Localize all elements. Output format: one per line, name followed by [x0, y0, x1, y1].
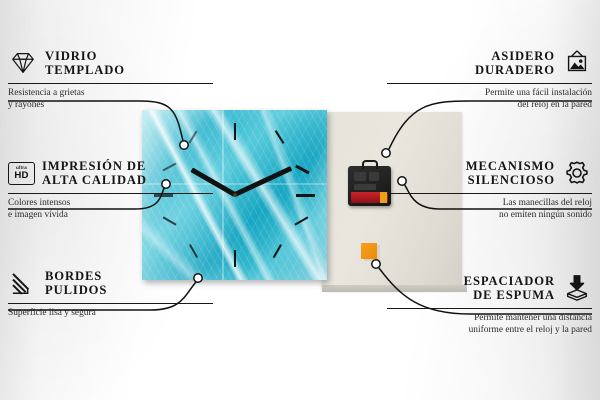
feature-title: ASIDERO DURADERO — [475, 49, 555, 78]
feature-print-quality: ultra HD IMPRESIÓN DE ALTA CALIDAD Color… — [8, 156, 213, 221]
feature-polished-edges: BORDES PULIDOS Superficie lisa y segura — [8, 266, 213, 320]
feature-heading: VIDRIO TEMPLADO — [8, 46, 213, 80]
feature-divider — [387, 193, 592, 194]
feature-subtitle: Las manecillas del reloj no emiten ningú… — [387, 198, 592, 221]
feature-subtitle: Permite una fácil instalación del reloj … — [387, 88, 592, 111]
feature-tempered-glass: VIDRIO TEMPLADO Resistencia a grietas y … — [8, 46, 213, 111]
feature-heading: BORDES PULIDOS — [8, 266, 213, 300]
feature-durable-hanger: ASIDERO DURADERO Permite una fácil insta… — [387, 46, 592, 111]
feature-divider — [387, 308, 592, 309]
feature-subtitle: Permite mantener una distancia uniforme … — [387, 313, 592, 336]
feature-subtitle: Colores intensos e imagen vívida — [8, 198, 213, 221]
feature-silent-mechanism: MECANISMO SILENCIOSO Las manecillas del … — [387, 156, 592, 221]
feature-title: BORDES PULIDOS — [45, 269, 107, 298]
feature-heading: ESPACIADOR DE ESPUMA — [387, 271, 592, 305]
connector-dot-tempered-glass — [180, 141, 188, 149]
feature-title: MECANISMO SILENCIOSO — [466, 159, 555, 188]
feature-divider — [387, 83, 592, 84]
picture-hanger-icon — [562, 49, 592, 77]
feature-title: ESPACIADOR DE ESPUMA — [464, 274, 555, 303]
feature-title: VIDRIO TEMPLADO — [45, 49, 125, 78]
feature-divider — [8, 193, 213, 194]
infographic-canvas: VIDRIO TEMPLADO Resistencia a grietas y … — [0, 0, 600, 400]
feature-heading: MECANISMO SILENCIOSO — [387, 156, 592, 190]
diamond-icon — [8, 49, 38, 77]
feature-subtitle: Resistencia a grietas y rayones — [8, 88, 213, 111]
connector-dot-foam-spacer — [372, 260, 380, 268]
feature-heading: ASIDERO DURADERO — [387, 46, 592, 80]
polished-edges-icon — [8, 269, 38, 297]
gear-icon — [562, 159, 592, 187]
feature-divider — [8, 83, 213, 84]
feature-foam-spacer: ESPACIADOR DE ESPUMA Permite mantener un… — [387, 271, 592, 336]
feature-title: IMPRESIÓN DE ALTA CALIDAD — [42, 159, 147, 188]
foam-spacer-icon — [562, 274, 592, 302]
hd-badge-bottom: HD — [14, 171, 28, 181]
feature-divider — [8, 303, 213, 304]
feature-heading: ultra HD IMPRESIÓN DE ALTA CALIDAD — [8, 156, 213, 190]
feature-subtitle: Superficie lisa y segura — [8, 308, 213, 320]
ultra-hd-icon: ultra HD — [8, 162, 35, 185]
